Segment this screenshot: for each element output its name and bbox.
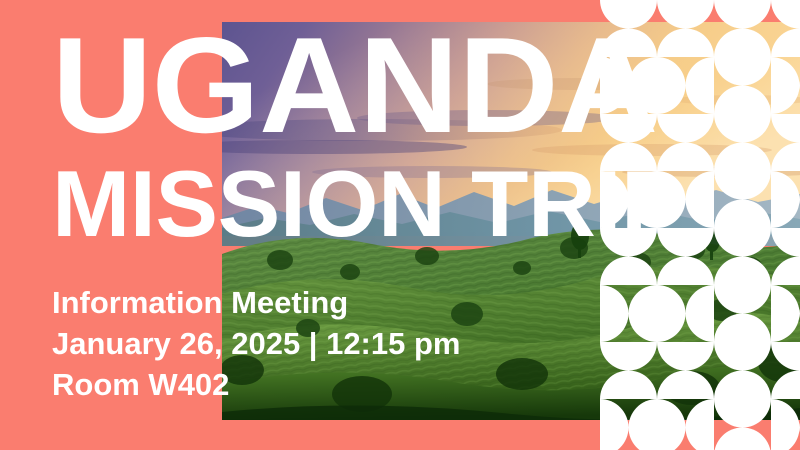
pattern-cell-vert bbox=[714, 342, 771, 399]
poster-canvas: UGANDA MISSION TRIP Information Meeting … bbox=[0, 0, 800, 450]
pattern-cell-vert bbox=[600, 342, 657, 399]
pattern-cell-horz bbox=[657, 57, 714, 114]
pattern-cell-horz bbox=[771, 171, 800, 228]
pattern-cell-vert bbox=[600, 0, 657, 57]
pattern-cell-vert bbox=[657, 0, 714, 57]
pattern-cell-vert bbox=[600, 114, 657, 171]
pattern-cell-horz bbox=[657, 171, 714, 228]
pattern-cell-vert bbox=[714, 228, 771, 285]
pattern-cell-vert bbox=[714, 171, 771, 228]
pattern-cell-vert bbox=[771, 0, 800, 57]
pattern-cell-horz bbox=[600, 399, 657, 450]
pattern-cell-vert bbox=[714, 285, 771, 342]
pattern-cell-horz bbox=[657, 399, 714, 450]
pattern-cell-horz bbox=[771, 285, 800, 342]
pattern-cell-vert bbox=[771, 114, 800, 171]
pattern-cell-vert bbox=[714, 399, 771, 450]
pattern-cell-horz bbox=[600, 285, 657, 342]
half-circle-pattern-panel bbox=[600, 0, 800, 450]
pattern-cell-horz bbox=[771, 57, 800, 114]
pattern-cell-horz bbox=[771, 399, 800, 450]
pattern-cell-vert bbox=[600, 228, 657, 285]
pattern-cell-horz bbox=[657, 285, 714, 342]
pattern-cell-vert bbox=[714, 0, 771, 57]
pattern-cell-vert bbox=[714, 114, 771, 171]
pattern-cell-vert bbox=[771, 228, 800, 285]
pattern-cell-horz bbox=[600, 57, 657, 114]
pattern-cell-vert bbox=[657, 114, 714, 171]
pattern-cell-horz bbox=[600, 171, 657, 228]
pattern-cell-vert bbox=[771, 342, 800, 399]
pattern-cell-vert bbox=[657, 342, 714, 399]
pattern-cell-vert bbox=[714, 57, 771, 114]
pattern-cell-vert bbox=[657, 228, 714, 285]
coral-background-panel bbox=[0, 0, 222, 450]
half-circle-pattern bbox=[600, 0, 800, 450]
